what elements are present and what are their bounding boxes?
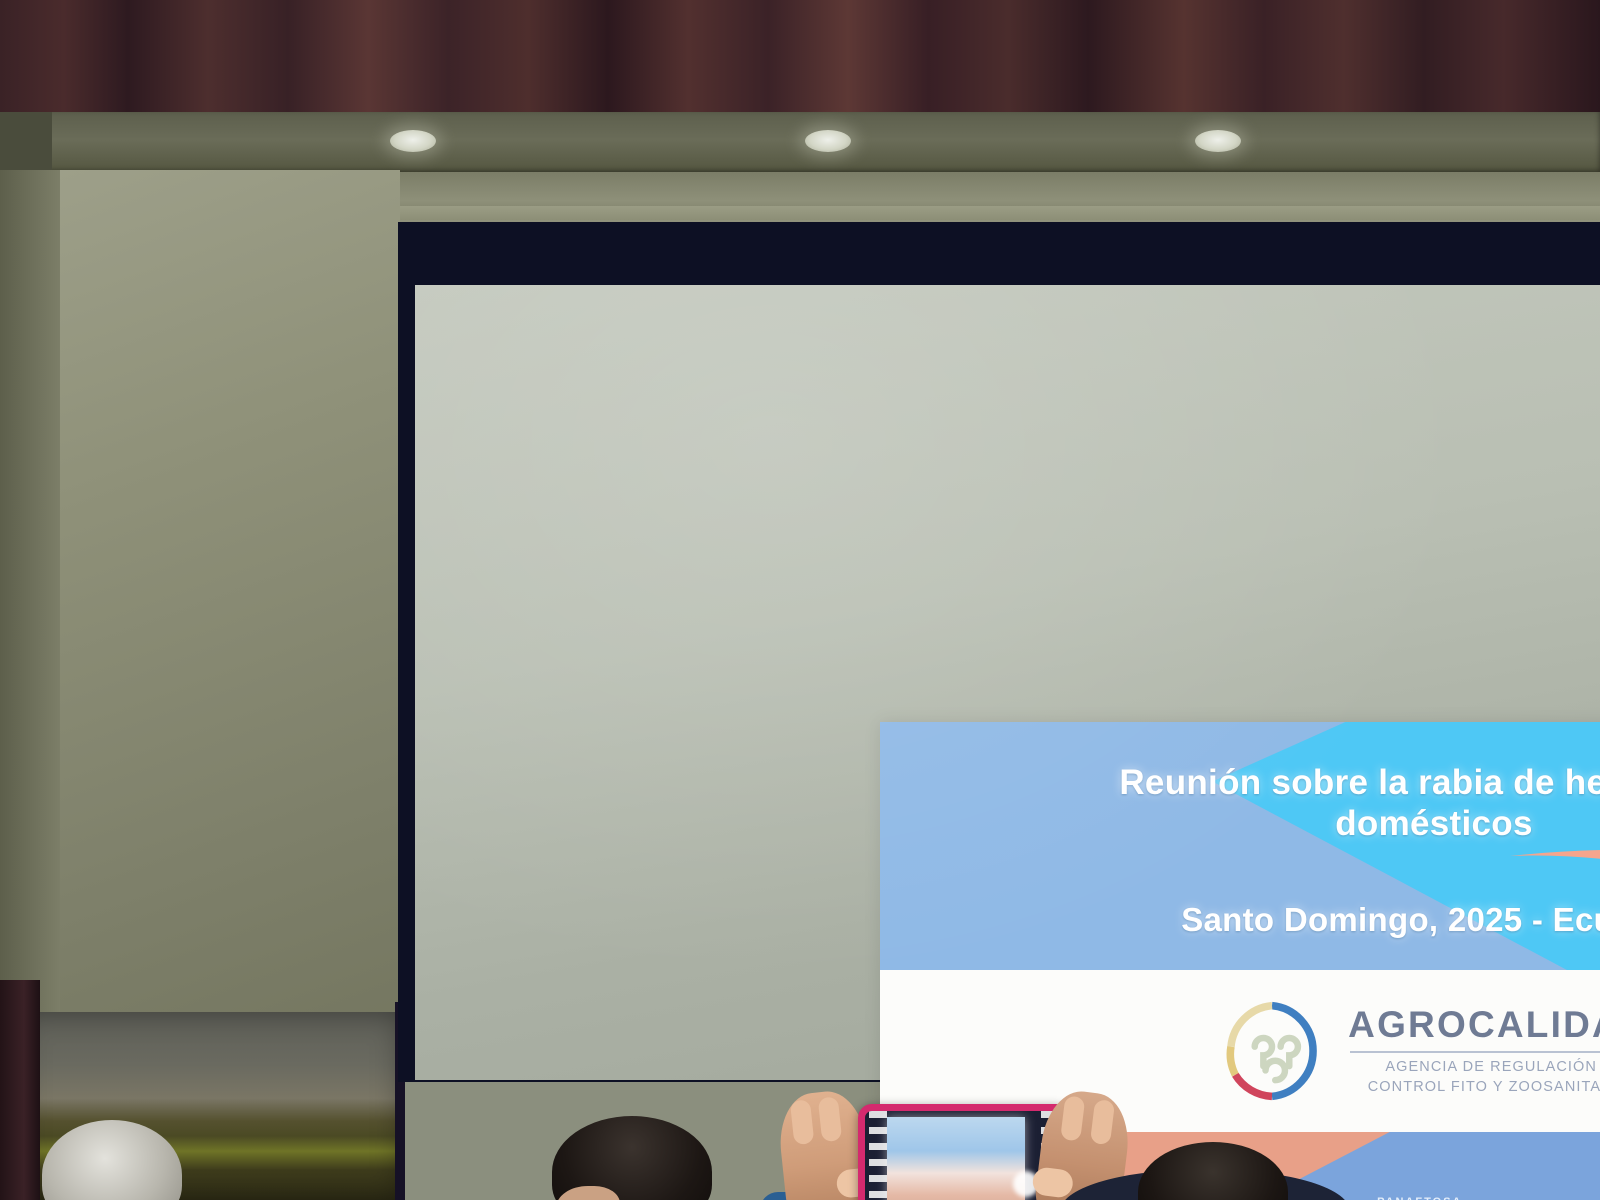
ceiling-downlight-icon — [805, 130, 851, 152]
attendee-head-right — [1138, 1142, 1288, 1200]
finger — [1060, 1095, 1085, 1141]
slide-top-section: Reunión sobre la rabia de herbívoros dom… — [880, 722, 1600, 970]
finger — [790, 1099, 814, 1145]
attendee-head-gray-hair — [42, 1120, 182, 1200]
phone-screen-preview[interactable] — [887, 1117, 1025, 1200]
phone-case-pattern — [869, 1111, 887, 1200]
slide-title-block: Reunión sobre la rabia de herbívoros dom… — [880, 722, 1600, 970]
ceiling-downlight-icon — [1195, 130, 1241, 152]
finger — [818, 1096, 842, 1142]
slide-subtitle: Santo Domingo, 2025 - Ecuador — [1181, 901, 1600, 939]
audience-foreground — [0, 1020, 1600, 1200]
projection-screen: Reunión sobre la rabia de herbívoros dom… — [415, 285, 1600, 1080]
thumb — [1031, 1166, 1074, 1199]
wooden-ceiling — [0, 0, 1600, 118]
attendee-head-dark-hair — [552, 1116, 712, 1200]
slide-title: Reunión sobre la rabia de herbívoros dom… — [1054, 762, 1600, 845]
conference-room-scene: Reunión sobre la rabia de herbívoros dom… — [0, 0, 1600, 1200]
valance-left-shadow — [0, 112, 52, 174]
ceiling-downlight-icon — [390, 130, 436, 152]
finger — [1090, 1099, 1115, 1145]
ceiling-valance — [0, 112, 1600, 174]
cyan-wedge-shape — [880, 722, 1600, 970]
coral-curve-shape — [880, 722, 1600, 970]
